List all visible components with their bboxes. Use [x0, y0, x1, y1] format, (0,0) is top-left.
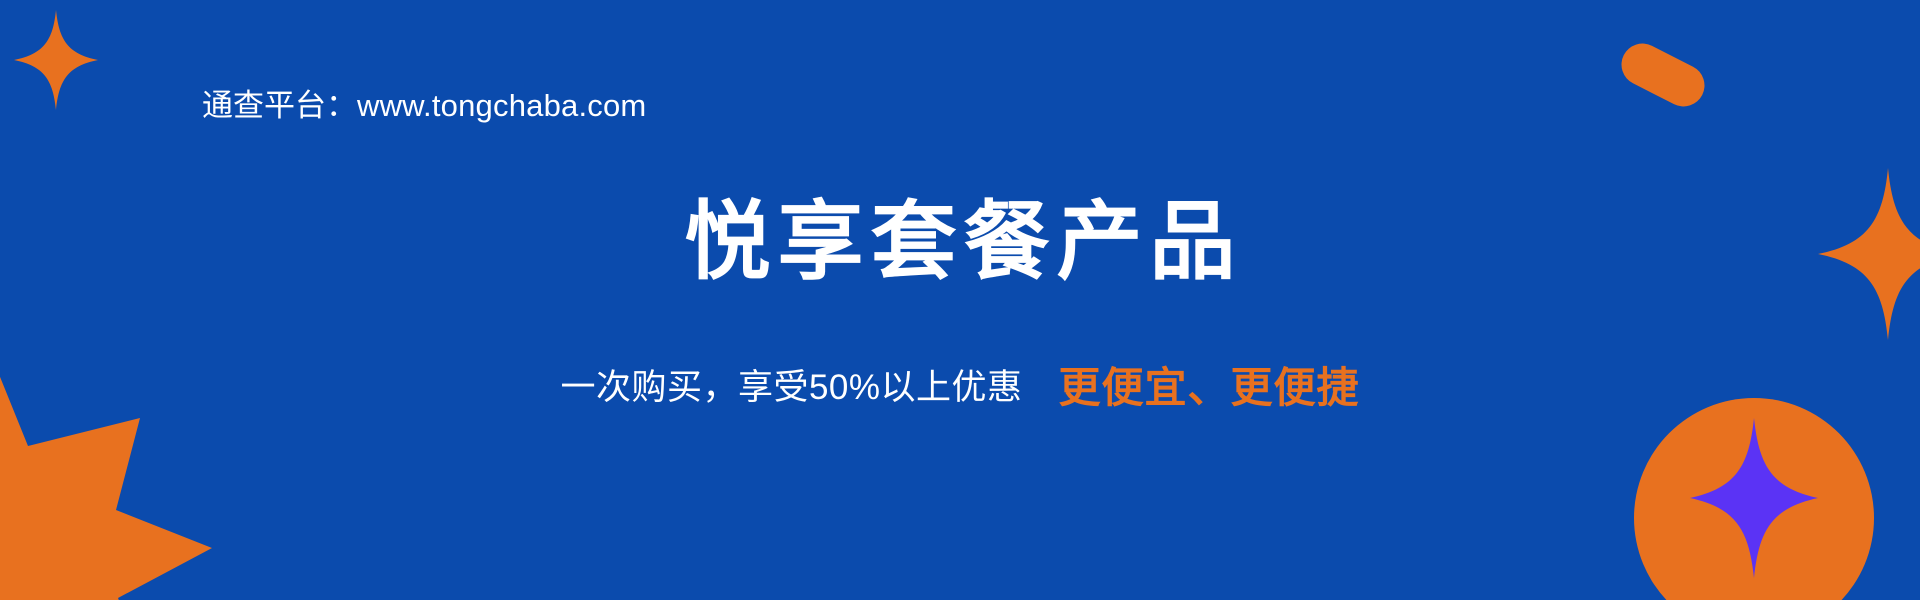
platform-url-line: 通查平台：www.tongchaba.com	[202, 85, 646, 127]
subtitle-row: 一次购买，享受50%以上优惠更便宜、更便捷	[0, 362, 1920, 414]
banner-text-layer: 通查平台：www.tongchaba.com 悦享套餐产品 一次购买，享受50%…	[0, 0, 1920, 600]
subtitle-offer-text: 一次购买，享受50%以上优惠	[560, 368, 1022, 407]
platform-url[interactable]: www.tongchaba.com	[357, 88, 646, 123]
promo-banner: 通查平台：www.tongchaba.com 悦享套餐产品 一次购买，享受50%…	[0, 0, 1920, 600]
subtitle-tagline: 更便宜、更便捷	[1059, 364, 1360, 411]
platform-label: 通查平台：	[202, 88, 357, 123]
page-title: 悦享套餐产品	[0, 192, 1920, 292]
